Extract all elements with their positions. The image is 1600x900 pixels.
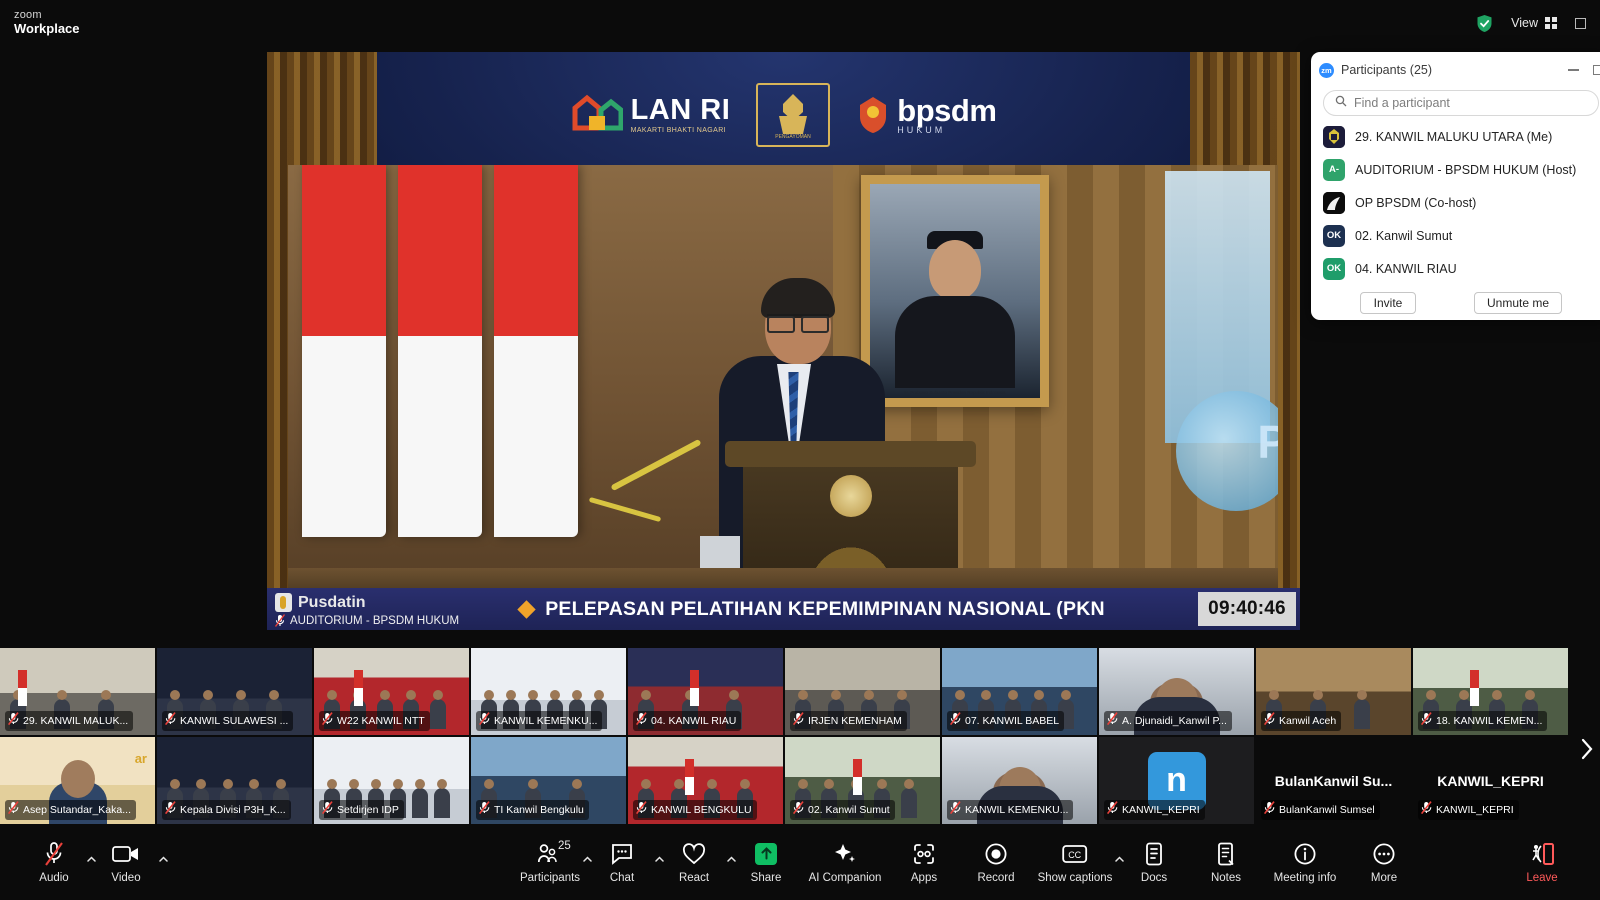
avatar: OK [1323, 258, 1345, 280]
notes-label: Notes [1211, 872, 1241, 884]
maximize-icon[interactable] [1593, 65, 1600, 75]
react-button[interactable]: React [658, 840, 730, 884]
zoom-logo-icon: zm [1319, 63, 1334, 78]
more-ellipsis-icon [1372, 840, 1396, 867]
share-label: Share [751, 872, 782, 884]
active-speaker-name-badge: AUDITORIUM - BPSDM HUKUM [275, 614, 459, 627]
participant-thumbnail[interactable]: 02. Kanwil Sumut [785, 737, 940, 824]
panel-window-controls [1568, 65, 1600, 75]
participant-name: 02. Kanwil Sumut [1355, 229, 1452, 243]
brand-line-workplace: Workplace [14, 22, 80, 36]
kemenkum-emblem: PENGAYOMAN [756, 83, 830, 147]
leave-door-icon [1529, 840, 1555, 867]
thumbnail-row-1: 29. KANWIL MALUK...KANWIL SULAWESI ...W2… [0, 648, 1600, 735]
svg-text:CC: CC [1068, 850, 1081, 860]
lanri-text: LAN RI MAKARTI BHAKTI NAGARI [631, 96, 731, 134]
participant-name: OP BPSDM (Co-host) [1355, 196, 1476, 210]
participants-button[interactable]: 25Participants [514, 840, 586, 884]
mic-muted-icon [275, 614, 285, 627]
mic-muted-icon [793, 801, 804, 819]
record-icon [984, 840, 1008, 867]
portrait-head [929, 240, 981, 300]
thumbnail-label: 02. Kanwil Sumut [790, 800, 895, 820]
toolbar-left-group: AudioVideo [0, 840, 162, 884]
audio-label: Audio [39, 872, 68, 884]
indonesian-flags [302, 165, 602, 565]
mic-muted-icon [1264, 712, 1275, 730]
list-item[interactable]: A- AUDITORIUM - BPSDM HUKUM (Host) [1311, 153, 1600, 186]
meeting-info-button[interactable]: Meeting info [1262, 840, 1348, 884]
ai-companion-button[interactable]: AI Companion [802, 840, 888, 884]
show-captions-button[interactable]: CCShow captions [1032, 840, 1118, 884]
participant-name: AUDITORIUM - BPSDM HUKUM (Host) [1355, 163, 1576, 177]
closed-captions-icon: CC [1062, 840, 1088, 867]
speaker-glasses [767, 314, 829, 327]
search-input[interactable] [1354, 96, 1587, 110]
chat-label: Chat [610, 872, 634, 884]
mic-muted-icon [8, 712, 19, 730]
mic-muted-icon [43, 840, 65, 867]
thumbnail-label: Kanwil Aceh [1261, 711, 1341, 731]
thumbnail-strip: 29. KANWIL MALUK...KANWIL SULAWESI ...W2… [0, 648, 1600, 824]
thumbnail-participant-name: KANWIL BENGKULU [651, 804, 752, 816]
participant-thumbnail[interactable]: KANWIL KEMENKU... [471, 648, 626, 735]
thumbnail-label: W22 KANWIL NTT [319, 711, 430, 731]
mic-muted-icon [165, 801, 176, 819]
participant-thumbnail[interactable]: arAsep Sutandar_Kaka... [0, 737, 155, 824]
participant-thumbnail[interactable]: 29. KANWIL MALUK... [0, 648, 155, 735]
toolbar-leave-group: Leave [1506, 840, 1600, 884]
participant-name: 04. KANWIL RIAU [1355, 262, 1457, 276]
pusdatin-label: Pusdatin [298, 594, 366, 612]
avatar: A- [1323, 159, 1345, 181]
participants-panel-footer: Invite Unmute me [1311, 292, 1600, 314]
bpsdm-logo: bpsdm HUKUM [856, 95, 996, 135]
thumbnail-participant-name: Kepala Divisi P3H_K... [180, 804, 286, 816]
lanri-tagline: MAKARTI BHAKTI NAGARI [631, 127, 731, 134]
record-button[interactable]: Record [960, 840, 1032, 884]
thumbnail-label: Kepala Divisi P3H_K... [162, 800, 291, 820]
chat-bubble-icon [610, 840, 634, 867]
participant-thumbnail[interactable]: 04. KANWIL RIAU [628, 648, 783, 735]
participants-panel-title: Participants (25) [1341, 63, 1432, 77]
audio-button[interactable]: Audio [18, 840, 90, 884]
thumbnail-row-2: arAsep Sutandar_Kaka...Kepala Divisi P3H… [0, 737, 1600, 824]
participant-thumbnail[interactable]: A. Djunaidi_Kanwil P... [1099, 648, 1254, 735]
list-item[interactable]: OP BPSDM (Co-host) [1311, 186, 1600, 219]
title-bar-right: View [1476, 13, 1600, 33]
thumbnail-participant-name: 18. KANWIL KEMEN... [1436, 715, 1542, 727]
apps-button[interactable]: Apps [888, 840, 960, 884]
view-label: View [1511, 16, 1538, 30]
heart-icon [682, 840, 706, 867]
thumbnail-label: KANWIL KEMENKU... [476, 711, 602, 731]
thumbnail-participant-name: KANWIL KEMENKU... [965, 804, 1068, 816]
chat-button[interactable]: Chat [586, 840, 658, 884]
mic-muted-icon [950, 712, 961, 730]
ai-sparkle-icon [833, 840, 857, 867]
mic-muted-icon [322, 801, 333, 819]
participant-thumbnail[interactable]: IRJEN KEMENHAM [785, 648, 940, 735]
bpsdm-title: bpsdm [897, 95, 996, 126]
notes-icon [1216, 840, 1236, 867]
thumbnail-participant-name: 07. KANWIL BABEL [965, 715, 1059, 727]
screen-letter: P [1257, 415, 1278, 469]
thumbnail-participant-name: KANWIL_KEPRI [1122, 804, 1200, 816]
unmute-me-button[interactable]: Unmute me [1474, 292, 1562, 314]
avatar [1323, 192, 1345, 214]
stage-inner-frame: H. Prabowo Subianto Presiden Republik In… [288, 165, 1278, 608]
mic-muted-icon [165, 712, 176, 730]
thumbnail-participant-name: Asep Sutandar_Kaka... [23, 804, 131, 816]
docs-icon [1144, 840, 1164, 867]
info-circle-icon [1293, 840, 1317, 867]
avatar [1323, 126, 1345, 148]
invite-button[interactable]: Invite [1360, 292, 1416, 314]
participant-thumbnail[interactable]: KANWIL_KEPRIKANWIL_KEPRI [1413, 737, 1568, 824]
participant-thumbnail[interactable]: W22 KANWIL NTT [314, 648, 469, 735]
thumbnail-label: BulanKanwil Sumsel [1261, 800, 1380, 820]
thumbnail-label: 04. KANWIL RIAU [633, 711, 741, 731]
mic-muted-icon [1421, 712, 1432, 730]
window-restore-icon[interactable] [1575, 18, 1586, 29]
shield-check-icon [1476, 14, 1493, 33]
mic-muted-icon [479, 712, 490, 730]
flag-2 [398, 165, 482, 537]
thumbnail-participant-name: IRJEN KEMENHAM [808, 715, 902, 727]
list-item[interactable]: 29. KANWIL MALUKU UTARA (Me) [1311, 120, 1600, 153]
thumbnail-label: TI Kanwil Bengkulu [476, 800, 589, 820]
mic-muted-icon [1421, 801, 1432, 819]
podium-top [725, 441, 976, 467]
thumbnail-participant-name: KANWIL SULAWESI ... [180, 715, 288, 727]
participant-name: 29. KANWIL MALUKU UTARA (Me) [1355, 130, 1552, 144]
participant-thumbnail[interactable]: KANWIL BENGKULU [628, 737, 783, 824]
participant-thumbnail[interactable]: KANWIL SULAWESI ... [157, 648, 312, 735]
avatar: OK [1323, 225, 1345, 247]
title-bar: zoom Workplace View [0, 0, 1600, 46]
thumbnail-participant-name: BulanKanwil Sumsel [1279, 804, 1375, 816]
list-item[interactable]: OK 04. KANWIL RIAU [1311, 252, 1600, 285]
lanri-mark-icon [571, 92, 623, 138]
mic-muted-icon [793, 712, 804, 730]
thumbnail-participant-name: W22 KANWIL NTT [337, 715, 425, 727]
list-item[interactable]: OK 02. Kanwil Sumut [1311, 219, 1600, 252]
apps-icon [912, 840, 936, 867]
more-label: More [1371, 872, 1397, 884]
meeting-info-label: Meeting info [1274, 872, 1337, 884]
record-label: Record [977, 872, 1014, 884]
thumbnail-participant-name: Setdirjen IDP [337, 804, 399, 816]
thumbnail-participant-name: TI Kanwil Bengkulu [494, 804, 584, 816]
thumbnail-label: KANWIL SULAWESI ... [162, 711, 293, 731]
thumbnail-label: KANWIL KEMENKU... [947, 800, 1073, 820]
more-button[interactable]: More [1348, 840, 1420, 884]
mic-muted-icon [322, 712, 333, 730]
thumbnail-participant-name: A. Djunaidi_Kanwil P... [1122, 715, 1227, 727]
participant-thumbnail[interactable]: Setdirjen IDP [314, 737, 469, 824]
thumbnail-label: KANWIL_KEPRI [1418, 800, 1519, 820]
meeting-toolbar: AudioVideo 25ParticipantsChatReactShareA… [0, 824, 1600, 900]
mic-muted-icon [8, 801, 19, 819]
docs-button[interactable]: Docs [1118, 840, 1190, 884]
notes-button[interactable]: Notes [1190, 840, 1262, 884]
minimize-icon[interactable] [1568, 69, 1579, 71]
thumbnail-participant-name: 04. KANWIL RIAU [651, 715, 736, 727]
mic-muted-icon [636, 712, 647, 730]
participant-thumbnail[interactable]: Kepala Divisi P3H_K... [157, 737, 312, 824]
docs-label: Docs [1141, 872, 1167, 884]
thumbnail-participant-name: 02. Kanwil Sumut [808, 804, 890, 816]
podium-emblem [830, 475, 872, 517]
thumbnail-participant-name: Kanwil Aceh [1279, 715, 1336, 727]
participants-panel[interactable]: zm Participants (25) 29. KANWIL MALUKU U… [1311, 52, 1600, 320]
stage-logo-band: LAN RI MAKARTI BHAKTI NAGARI PENGAYOMAN … [267, 62, 1300, 167]
pusdatin-watermark: Pusdatin [275, 593, 366, 612]
participants-label: Participants [520, 872, 580, 884]
participant-thumbnail[interactable]: KANWIL KEMENKU... [942, 737, 1097, 824]
thumbnail-label: 29. KANWIL MALUK... [5, 711, 133, 731]
zoom-brand: zoom Workplace [0, 10, 80, 35]
mic-muted-icon [1107, 801, 1118, 819]
participant-thumbnail[interactable]: BulanKanwil Su...BulanKanwil Sumsel [1256, 737, 1411, 824]
diamond-bullet-icon [518, 600, 536, 618]
banner-title: PELEPASAN PELATIHAN KEPEMIMPINAN NASIONA… [545, 598, 1105, 621]
participant-thumbnail[interactable]: nKANWIL_KEPRI [1099, 737, 1254, 824]
thumbnail-label: IRJEN KEMENHAM [790, 711, 907, 731]
react-label: React [679, 872, 709, 884]
thumbnail-label: KANWIL_KEPRI [1104, 800, 1205, 820]
video-label: Video [111, 872, 140, 884]
participants-panel-header: zm Participants (25) [1311, 58, 1600, 82]
participant-thumbnail[interactable]: TI Kanwil Bengkulu [471, 737, 626, 824]
participant-thumbnail[interactable]: 18. KANWIL KEMEN... [1413, 648, 1568, 735]
participants-count: 25 [558, 840, 571, 852]
thumbnail-label: 07. KANWIL BABEL [947, 711, 1064, 731]
mic-muted-icon [950, 801, 961, 819]
chevron-right-icon[interactable] [1577, 734, 1597, 764]
grid-view-icon [1545, 17, 1557, 29]
active-speaker-name: AUDITORIUM - BPSDM HUKUM [290, 615, 459, 627]
speaker-hair [761, 278, 835, 318]
participant-thumbnail[interactable]: 07. KANWIL BABEL [942, 648, 1097, 735]
lanri-logo: LAN RI MAKARTI BHAKTI NAGARI [571, 92, 731, 138]
toolbar-center-group: 25ParticipantsChatReactShareAI Companion… [514, 840, 1420, 884]
thumbnail-label: Asep Sutandar_Kaka... [5, 800, 136, 820]
share-button[interactable]: Share [730, 840, 802, 884]
leave-button[interactable]: Leave [1506, 840, 1578, 884]
thumbnail-participant-name: KANWIL KEMENKU... [494, 715, 597, 727]
mic-muted-icon [1264, 801, 1275, 819]
svg-text:PENGAYOMAN: PENGAYOMAN [776, 134, 812, 140]
share-screen-icon [755, 840, 777, 867]
thumbnail-participant-name: KANWIL_KEPRI [1436, 804, 1514, 816]
search-icon [1335, 94, 1347, 112]
thumbnail-label: KANWIL BENGKULU [633, 800, 757, 820]
banner-clock: 09:40:46 [1198, 592, 1296, 626]
participant-thumbnail[interactable]: Kanwil Aceh [1256, 648, 1411, 735]
participant-search[interactable] [1323, 90, 1599, 116]
thumbnail-label: A. Djunaidi_Kanwil P... [1104, 711, 1232, 731]
mic-muted-icon [1107, 712, 1118, 730]
view-button[interactable]: View [1505, 13, 1563, 33]
main-speaker-video[interactable]: LAN RI MAKARTI BHAKTI NAGARI PENGAYOMAN … [267, 52, 1300, 630]
video-camera-icon [112, 840, 140, 867]
mic-muted-icon [636, 801, 647, 819]
thumbnail-participant-name: 29. KANWIL MALUK... [23, 715, 128, 727]
leave-label: Leave [1526, 872, 1557, 884]
participants-list: 29. KANWIL MALUKU UTARA (Me) A- AUDITORI… [1311, 120, 1600, 285]
video-button[interactable]: Video [90, 840, 162, 884]
ai-companion-label: AI Companion [809, 872, 882, 884]
show-captions-label: Show captions [1038, 872, 1113, 884]
apps-label: Apps [911, 872, 937, 884]
thumbnail-label: Setdirjen IDP [319, 800, 404, 820]
thumbnail-label: 18. KANWIL KEMEN... [1418, 711, 1547, 731]
flag-3 [494, 165, 578, 537]
flag-1 [302, 165, 386, 537]
lanri-title: LAN RI [631, 96, 731, 125]
zoom-meeting-window: zoom Workplace View [0, 0, 1600, 900]
pusdatin-icon [275, 593, 292, 612]
mic-muted-icon [479, 801, 490, 819]
